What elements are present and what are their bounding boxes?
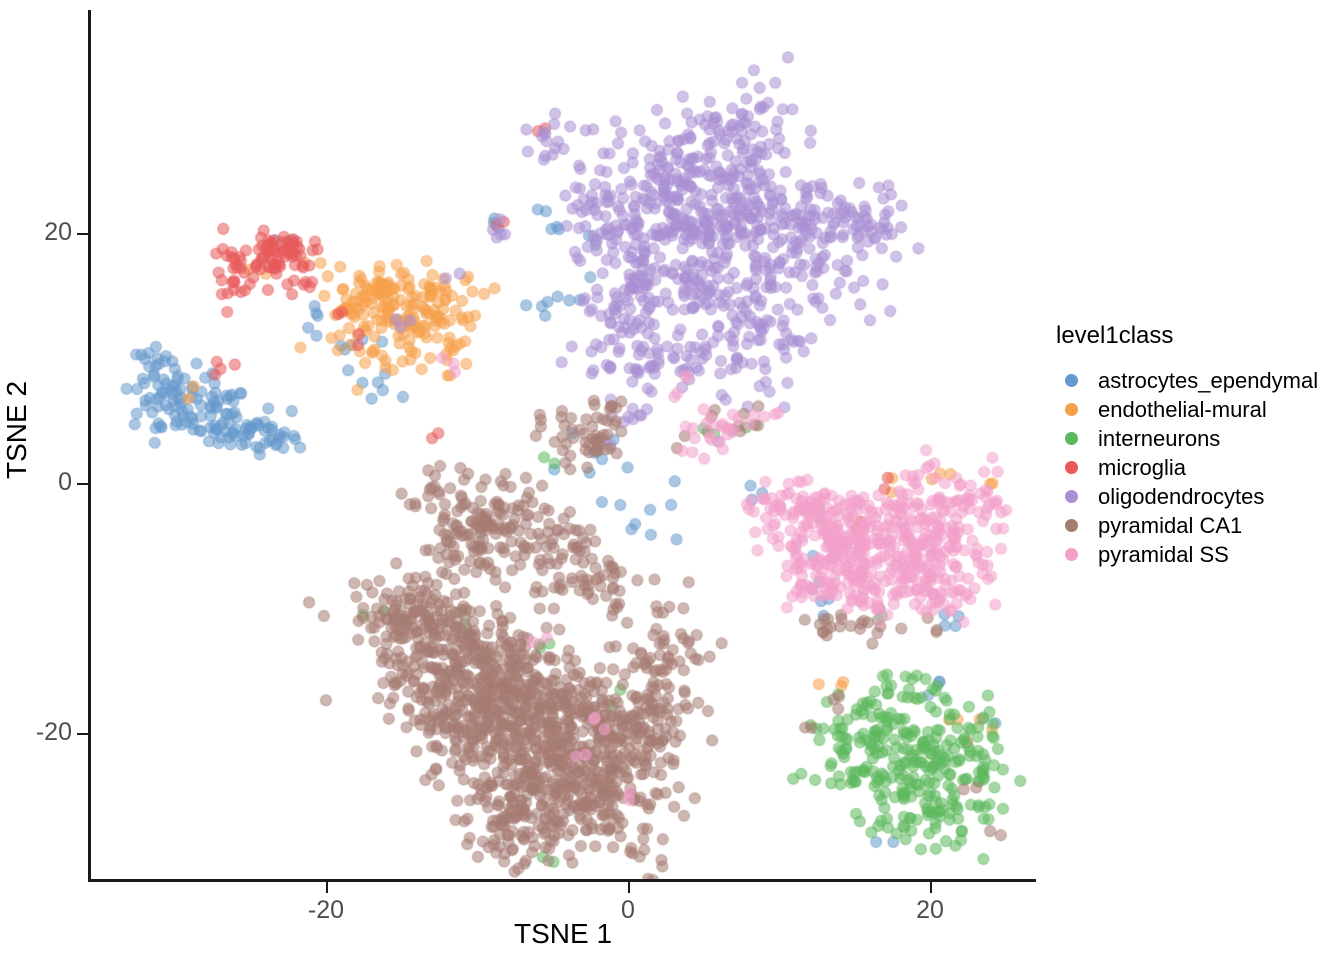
x-tick-minus-20 bbox=[326, 882, 328, 893]
x-tick-0 bbox=[628, 882, 630, 893]
legend-key-swatch bbox=[1056, 424, 1086, 453]
legend-dot-icon bbox=[1065, 432, 1078, 445]
legend-dot-icon bbox=[1065, 548, 1078, 561]
scatter-points-layer bbox=[90, 10, 1036, 880]
legend-item-label: oligodendrocytes bbox=[1098, 486, 1264, 508]
legend-item-label: interneurons bbox=[1098, 428, 1220, 450]
legend-item-list: astrocytes_ependymalendothelial-muralint… bbox=[1056, 366, 1344, 569]
legend-dot-icon bbox=[1065, 461, 1078, 474]
legend-item-label: endothelial-mural bbox=[1098, 399, 1267, 421]
y-ticklabel-20: 20 bbox=[44, 220, 72, 245]
legend-dot-icon bbox=[1065, 403, 1078, 416]
y-ticklabel-0: 0 bbox=[58, 470, 72, 495]
legend-item-label: pyramidal SS bbox=[1098, 544, 1229, 566]
legend-dot-icon bbox=[1065, 519, 1078, 532]
y-tick-20 bbox=[77, 233, 88, 235]
tsne-scatter-figure: 20 0 -20 -20 0 20 TSNE 2 TSNE 1 level1cl… bbox=[0, 0, 1344, 960]
legend-item[interactable]: oligodendrocytes bbox=[1056, 482, 1344, 511]
legend-key-swatch bbox=[1056, 511, 1086, 540]
legend-dot-icon bbox=[1065, 374, 1078, 387]
legend-dot-icon bbox=[1065, 490, 1078, 503]
legend-item[interactable]: pyramidal CA1 bbox=[1056, 511, 1344, 540]
legend-key-swatch bbox=[1056, 540, 1086, 569]
x-axis-line bbox=[88, 879, 1036, 882]
legend-item[interactable]: astrocytes_ependymal bbox=[1056, 366, 1344, 395]
x-tick-20 bbox=[930, 882, 932, 893]
y-tick-0 bbox=[77, 483, 88, 485]
x-axis-title: TSNE 1 bbox=[90, 918, 1036, 950]
y-tick-minus-20 bbox=[77, 733, 88, 735]
plot-panel bbox=[90, 10, 1036, 880]
legend-item[interactable]: interneurons bbox=[1056, 424, 1344, 453]
legend-key-swatch bbox=[1056, 453, 1086, 482]
legend: level1class astrocytes_ependymalendothel… bbox=[1056, 322, 1344, 569]
y-axis-title: TSNE 2 bbox=[1, 280, 33, 580]
legend-item[interactable]: microglia bbox=[1056, 453, 1344, 482]
legend-item-label: astrocytes_ependymal bbox=[1098, 370, 1318, 392]
legend-item[interactable]: pyramidal SS bbox=[1056, 540, 1344, 569]
legend-item-label: pyramidal CA1 bbox=[1098, 515, 1242, 537]
y-axis-line bbox=[88, 10, 91, 882]
legend-item-label: microglia bbox=[1098, 457, 1186, 479]
legend-key-swatch bbox=[1056, 366, 1086, 395]
legend-key-swatch bbox=[1056, 395, 1086, 424]
legend-key-swatch bbox=[1056, 482, 1086, 511]
y-ticklabel-minus-20: -20 bbox=[36, 720, 72, 745]
legend-item[interactable]: endothelial-mural bbox=[1056, 395, 1344, 424]
legend-title: level1class bbox=[1056, 322, 1344, 350]
